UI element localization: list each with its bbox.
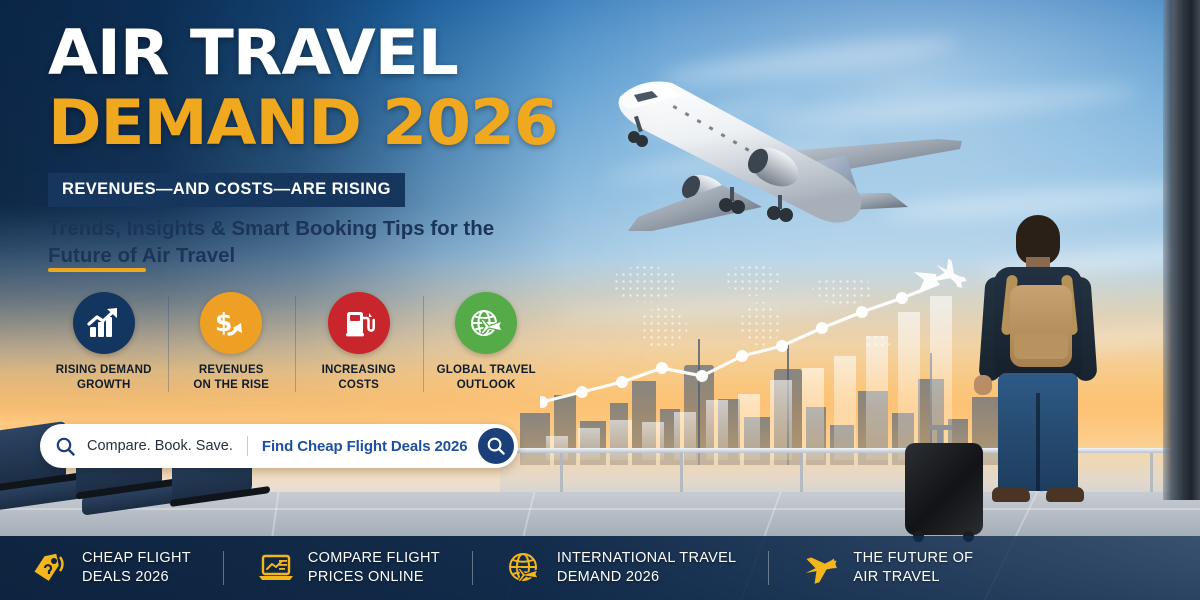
headline-line-2: DEMAND 2026 — [48, 94, 558, 152]
feature-icon-circle — [328, 292, 390, 354]
search-icon — [487, 437, 505, 455]
bottom-item-label: COMPARE FLIGHT PRICES ONLINE — [308, 549, 440, 587]
feature-label-line1: RISING DEMAND — [56, 364, 152, 376]
laptop-chart-icon — [256, 552, 296, 584]
fuel-pump-icon — [343, 307, 375, 339]
search-bar[interactable]: Compare. Book. Save. Find Cheap Flight D… — [40, 424, 518, 468]
feature-label: RISING DEMAND GROWTH — [56, 363, 152, 392]
bottom-item-line1: THE FUTURE OF — [853, 550, 973, 566]
bottom-item-label: INTERNATIONAL TRAVEL DEMAND 2026 — [557, 549, 737, 587]
globe-plane-icon — [505, 551, 545, 585]
bottom-item-label: THE FUTURE OF AIR TRAVEL — [853, 549, 973, 587]
bottom-item-line1: INTERNATIONAL TRAVEL — [557, 550, 737, 566]
bottom-item-line2: AIR TRAVEL — [853, 569, 939, 585]
feature-increasing-costs[interactable]: INCREASING COSTS — [295, 292, 423, 404]
feature-label-line2: OUTLOOK — [457, 379, 516, 391]
feature-label: INCREASING COSTS — [322, 363, 396, 392]
tagline-rule — [48, 268, 146, 272]
bottom-item-line2: DEMAND 2026 — [557, 569, 659, 585]
headline-line-1: AIR TRAVEL — [48, 24, 458, 82]
content-column: AIR TRAVEL DEMAND 2026 REVENUES—AND COST… — [0, 0, 660, 600]
bottom-item-compare-flight-prices[interactable]: COMPARE FLIGHT PRICES ONLINE — [256, 536, 440, 600]
bottom-divider — [223, 551, 224, 585]
feature-revenues-on-the-rise[interactable]: $ REVENUES ON THE RISE — [168, 292, 296, 404]
traveler-figure — [960, 215, 1110, 515]
bottom-item-future-of-air-travel[interactable]: THE FUTURE OF AIR TRAVEL — [801, 536, 973, 600]
air-travel-banner: AIR TRAVEL DEMAND 2026 REVENUES—AND COST… — [0, 0, 1200, 600]
feature-label-line2: ON THE RISE — [193, 379, 269, 391]
bottom-item-line2: PRICES ONLINE — [308, 569, 424, 585]
bottom-divider — [768, 551, 769, 585]
window-frame-mullion — [1172, 0, 1200, 500]
globe-plane-icon — [469, 306, 503, 340]
window-frame-inner — [1163, 0, 1172, 500]
feature-icon-circle: $ — [200, 292, 262, 354]
search-icon — [56, 437, 75, 456]
bottom-item-label: CHEAP FLIGHT DEALS 2026 — [82, 549, 191, 587]
search-placeholder: Compare. Book. Save. — [87, 438, 233, 454]
feature-label-line1: INCREASING — [322, 364, 396, 376]
feature-rising-demand-growth[interactable]: RISING DEMAND GROWTH — [40, 292, 168, 404]
feature-label-line2: GROWTH — [77, 379, 131, 391]
feature-label: GLOBAL TRAVEL OUTLOOK — [437, 363, 536, 392]
bottom-item-international-travel-demand[interactable]: INTERNATIONAL TRAVEL DEMAND 2026 — [505, 536, 737, 600]
airplane-icon — [801, 551, 841, 585]
search-input-value[interactable]: Find Cheap Flight Deals 2026 — [262, 438, 468, 455]
search-divider — [247, 436, 248, 456]
bottom-divider — [472, 551, 473, 585]
bottom-item-cheap-flight-deals[interactable]: CHEAP FLIGHT DEALS 2026 — [30, 536, 191, 600]
feature-label: REVENUES ON THE RISE — [193, 363, 269, 392]
bar-chart-up-arrow-icon — [87, 306, 121, 340]
tagline: Trends, Insights & Smart Booking Tips fo… — [48, 215, 518, 269]
feature-icon-circle — [455, 292, 517, 354]
feature-icon-circle — [73, 292, 135, 354]
feature-label-line1: GLOBAL TRAVEL — [437, 364, 536, 376]
kicker-banner: REVENUES—AND COSTS—ARE RISING — [48, 173, 405, 207]
price-tag-icon — [30, 552, 70, 584]
feature-label-line2: COSTS — [338, 379, 379, 391]
feature-label-line1: REVENUES — [199, 364, 264, 376]
search-submit-button[interactable] — [478, 428, 514, 464]
bottom-item-line2: DEALS 2026 — [82, 569, 169, 585]
bottom-highlight-bar: CHEAP FLIGHT DEALS 2026 — [0, 536, 1200, 600]
feature-list: RISING DEMAND GROWTH $ REVENUES ON THE R… — [40, 292, 550, 404]
bottom-item-line1: CHEAP FLIGHT — [82, 550, 191, 566]
feature-global-travel-outlook[interactable]: GLOBAL TRAVEL OUTLOOK — [423, 292, 551, 404]
dollar-up-arrow-icon: $ — [214, 306, 248, 340]
bottom-item-line1: COMPARE FLIGHT — [308, 550, 440, 566]
